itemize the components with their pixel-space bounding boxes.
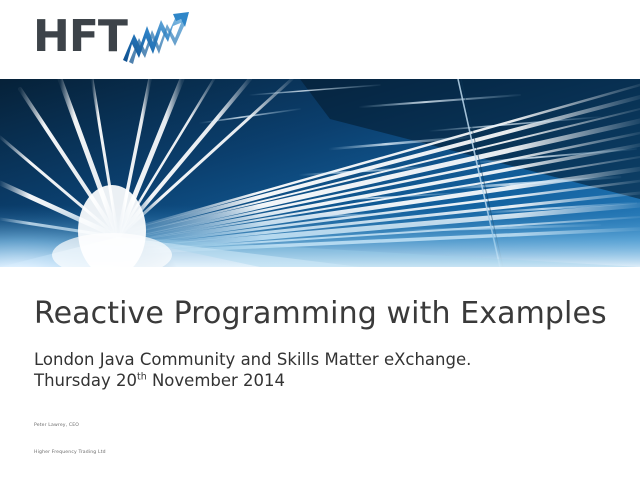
footnote-company: Higher Frequency Trading Ltd bbox=[34, 450, 106, 455]
subtitle-line-event: London Java Community and Skills Matter … bbox=[34, 349, 471, 370]
subtitle-date-prefix: Thursday 20 bbox=[34, 371, 137, 390]
subtitle-line-date: Thursday 20th November 2014 bbox=[34, 370, 471, 391]
slide-title: Reactive Programming with Examples bbox=[34, 296, 607, 332]
light-streaks-graphic bbox=[0, 79, 640, 267]
logo-wordmark: HFT bbox=[33, 14, 127, 60]
subtitle-date-suffix: November 2014 bbox=[147, 371, 285, 390]
footnote-presenter: Peter Lawrey, CEO bbox=[34, 423, 79, 428]
subtitle-date-ordinal: th bbox=[137, 372, 147, 383]
hero-banner-image bbox=[0, 79, 640, 267]
hft-logo: HFT bbox=[33, 14, 203, 66]
slide-subtitle: London Java Community and Skills Matter … bbox=[34, 349, 471, 391]
presentation-title-slide: HFT bbox=[0, 0, 640, 480]
upward-trend-arrow-icon bbox=[121, 12, 191, 64]
